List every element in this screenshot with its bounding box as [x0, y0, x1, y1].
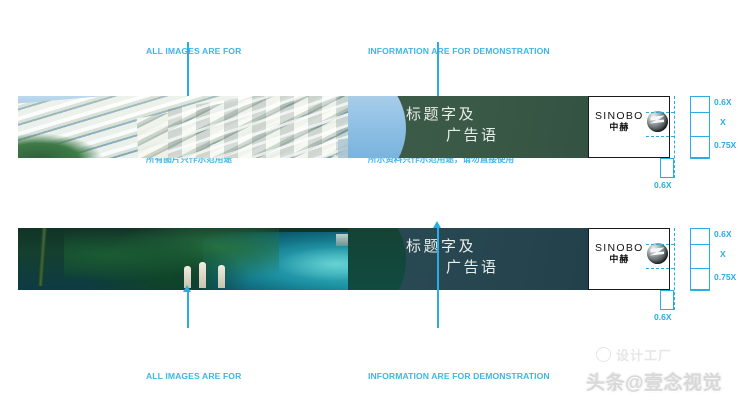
guide-label-bottom: 0.75X	[714, 140, 736, 150]
leader-line-images-bottom	[187, 292, 189, 328]
guide-label-top: 0.6X	[714, 229, 732, 239]
guide-box-right	[690, 96, 710, 158]
watermark-design-factory: 设计工厂	[596, 344, 728, 364]
headline-line-2: 广告语	[406, 257, 499, 278]
photo-foliage-front	[64, 228, 279, 290]
logo-wordmark-en: SINOBO	[595, 243, 644, 254]
artboard: ALL IMAGES ARE FOR DEMONSTRATION ONLY. 所…	[0, 0, 742, 401]
leader-arrow-images-bottom	[183, 285, 191, 292]
guide-tick-lower	[690, 136, 710, 137]
guide-dash-horizontal-lower	[646, 268, 674, 269]
logo-clear-space-box: SINOBO 中赫	[588, 228, 670, 290]
photo-statue	[199, 262, 206, 288]
watermark-toutiao: 头条@壹念视觉	[586, 368, 722, 395]
guide-label-left: 0.6X	[654, 312, 672, 322]
measurement-guides-2: 0.6X X 0.75X 0.6X	[668, 218, 742, 338]
banner-row-2: 标题字及 广告语 SINOBO 中赫	[18, 228, 670, 290]
sinobo-globe-icon	[647, 111, 668, 132]
annotation-line-en1: ALL IMAGES ARE FOR	[146, 46, 250, 57]
logo-wordmark-cn: 中赫	[609, 123, 629, 132]
logo-wordmark-cn: 中赫	[609, 255, 629, 264]
watermark-top-text: 设计工厂	[616, 345, 672, 364]
banner-headline: 标题字及 广告语	[406, 104, 499, 145]
guide-tick-upper	[690, 112, 710, 113]
leader-line-info-bottom	[437, 228, 439, 328]
guide-tick-top	[690, 96, 710, 97]
guide-dash-horizontal-lower	[646, 136, 674, 137]
measurement-guides-1: 0.6X X 0.75X 0.6X	[668, 86, 742, 206]
guide-label-middle: X	[720, 249, 726, 259]
guide-box-right	[690, 228, 710, 290]
leader-arrow-info-bottom	[433, 221, 441, 228]
watermark-badge-icon	[596, 347, 611, 362]
guide-box-bottom	[660, 290, 674, 310]
guide-label-left: 0.6X	[654, 180, 672, 190]
annotation-line-en1: INFORMATION ARE FOR DEMONSTRATION	[368, 371, 550, 382]
guide-dash-vertical	[674, 228, 675, 310]
guide-tick-upper	[690, 244, 710, 245]
guide-dash-vertical	[674, 96, 675, 178]
guide-tick-lower	[690, 268, 710, 269]
panel-curved-edge	[348, 96, 410, 158]
guide-tick-bottom	[690, 290, 710, 291]
headline-line-1: 标题字及	[406, 237, 476, 255]
guide-label-middle: X	[720, 117, 726, 127]
annotation-line-en1: INFORMATION ARE FOR DEMONSTRATION	[368, 46, 550, 57]
guide-tick-bottom	[690, 158, 710, 159]
guide-dash-horizontal-upper	[646, 244, 674, 245]
guide-label-bottom: 0.75X	[714, 272, 736, 282]
guide-dash-horizontal-upper	[646, 112, 674, 113]
logo-wordmark-en: SINOBO	[595, 111, 644, 122]
annotation-images-bottom: ALL IMAGES ARE FOR DEMONSTRATION ONLY. 所…	[146, 329, 250, 401]
logo-lockup: SINOBO 中赫	[595, 111, 668, 132]
logo-clear-space-box: SINOBO 中赫	[588, 96, 670, 158]
annotation-info-bottom: INFORMATION ARE FOR DEMONSTRATION ONLY. …	[368, 329, 550, 401]
banner-row-1: 标题字及 广告语 SINOBO 中赫	[18, 96, 670, 158]
headline-line-1: 标题字及	[406, 105, 476, 123]
photo-foreground-greenery	[18, 134, 102, 158]
sinobo-globe-icon	[647, 243, 668, 264]
annotation-line-en1: ALL IMAGES ARE FOR	[146, 371, 250, 382]
logo-lockup: SINOBO 中赫	[595, 243, 668, 264]
logo-wordmark-group: SINOBO 中赫	[595, 243, 644, 264]
headline-line-2: 广告语	[406, 125, 499, 146]
guide-label-top: 0.6X	[714, 97, 732, 107]
banner-headline: 标题字及 广告语	[406, 236, 499, 277]
guide-tick-top	[690, 228, 710, 229]
panel-curved-edge	[348, 228, 410, 290]
guide-box-bottom	[660, 158, 674, 178]
photo-statue	[218, 265, 225, 288]
logo-wordmark-group: SINOBO 中赫	[595, 111, 644, 132]
